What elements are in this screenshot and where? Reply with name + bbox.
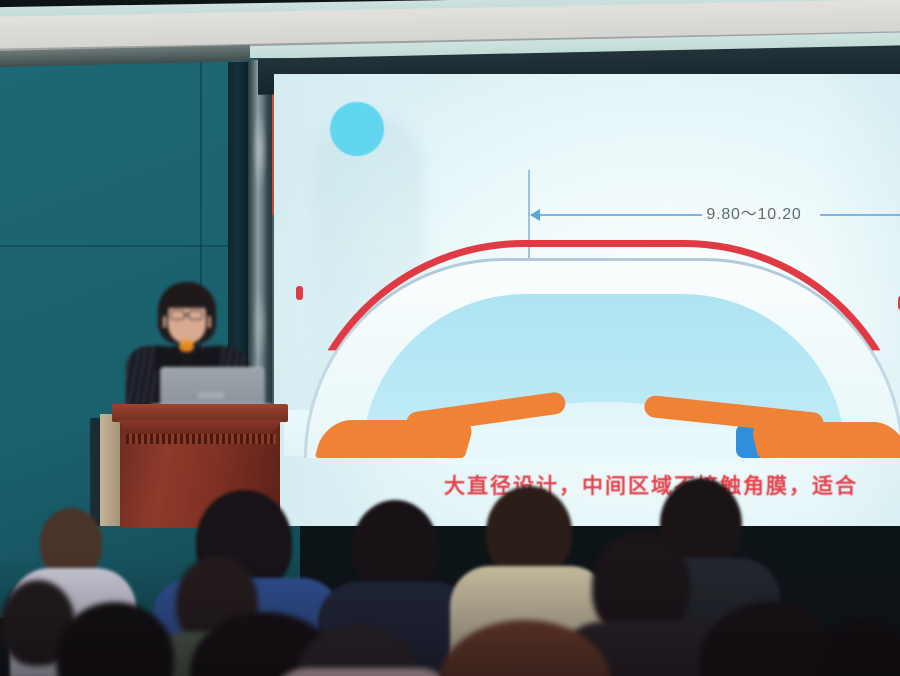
posterior-region (444, 432, 774, 458)
earring-right (208, 316, 211, 328)
limbus-right (750, 422, 900, 458)
dimension-arrow-head (530, 209, 540, 221)
podium-top-surface (112, 404, 288, 422)
projection-screen: 9.80～10.20 大直径设计，中间区域不接触角膜，适合 (274, 74, 900, 526)
eye-diagram (284, 224, 900, 474)
foreground-shadow-gradient (0, 556, 900, 676)
dimension-label: 9.80～10.20 (684, 200, 824, 224)
laptop-brand-logo (198, 392, 224, 399)
lens-edge-left (296, 286, 303, 300)
earring-left (163, 316, 166, 328)
pillar-reflection-upper (252, 110, 268, 190)
laptop-lid (160, 367, 264, 407)
dimension-line-left (532, 214, 702, 216)
wall-panel-seam-horizontal (0, 245, 240, 247)
eyeglasses-bridge (185, 314, 188, 316)
eyeglasses-lens-right (188, 310, 203, 320)
dimension-line-right (820, 214, 900, 216)
limbus-left (315, 420, 476, 458)
lecture-hall-photo: 9.80～10.20 大直径设计，中间区域不接触角膜，适合 (0, 0, 900, 676)
eyeglasses-lens-left (170, 310, 185, 320)
podium-dentil-trim (126, 434, 276, 444)
podium-bevel (118, 420, 282, 434)
speaker-fringe (164, 290, 210, 308)
microphone-head (179, 340, 194, 352)
slide-decoration-circle (330, 102, 384, 156)
